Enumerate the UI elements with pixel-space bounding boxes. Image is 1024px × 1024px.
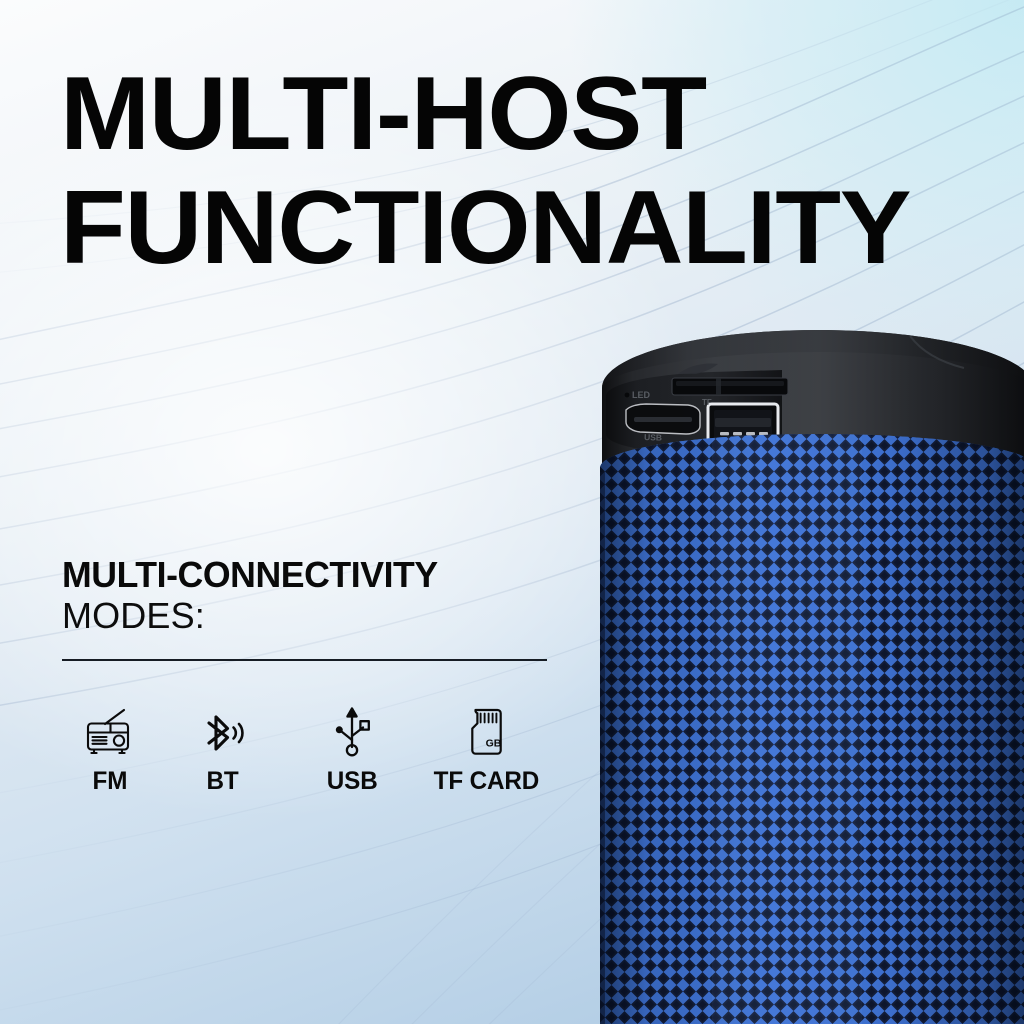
port-label-usb: USB (644, 432, 662, 443)
port-label-led: LED (632, 390, 651, 400)
product-marketing-canvas: MULTI-HOST FUNCTIONALITY MULTI-CONNECTIV… (0, 0, 1024, 1024)
product-speaker-image: LED TF USB LED (592, 322, 1024, 1024)
sd-card-icon: GB (463, 706, 509, 758)
bluetooth-icon (198, 706, 248, 758)
subhead-block: MULTI-CONNECTIVITY MODES: (62, 556, 562, 661)
mode-label-bt: BT (207, 767, 239, 796)
mode-label-fm: FM (93, 767, 128, 796)
subhead-strong: MULTI-CONNECTIVITY (62, 556, 557, 593)
mode-item-fm: FM (62, 706, 158, 796)
speaker-mesh-grille (592, 422, 1024, 1024)
port-label-tf: TF (702, 398, 712, 407)
usb-icon (330, 706, 374, 758)
mode-item-bt: BT (158, 706, 288, 796)
mode-item-usb: USB (288, 706, 416, 796)
sd-card-gb-text: GB (486, 738, 502, 750)
led-indicator (625, 393, 630, 398)
connectivity-modes-row: FM BT (62, 706, 562, 796)
subhead-light: MODES: (62, 595, 562, 637)
mode-item-tf-card: GB TF CARD (416, 706, 556, 796)
radio-icon (83, 706, 137, 758)
mode-label-tf-card: TF CARD (433, 767, 539, 796)
mode-label-usb: USB (327, 767, 378, 796)
subhead-divider (62, 659, 547, 661)
micro-usb-slot (626, 404, 700, 434)
headline-line-1: MULTI-HOST (60, 72, 706, 157)
headline-line-2: FUNCTIONALITY (60, 186, 910, 271)
